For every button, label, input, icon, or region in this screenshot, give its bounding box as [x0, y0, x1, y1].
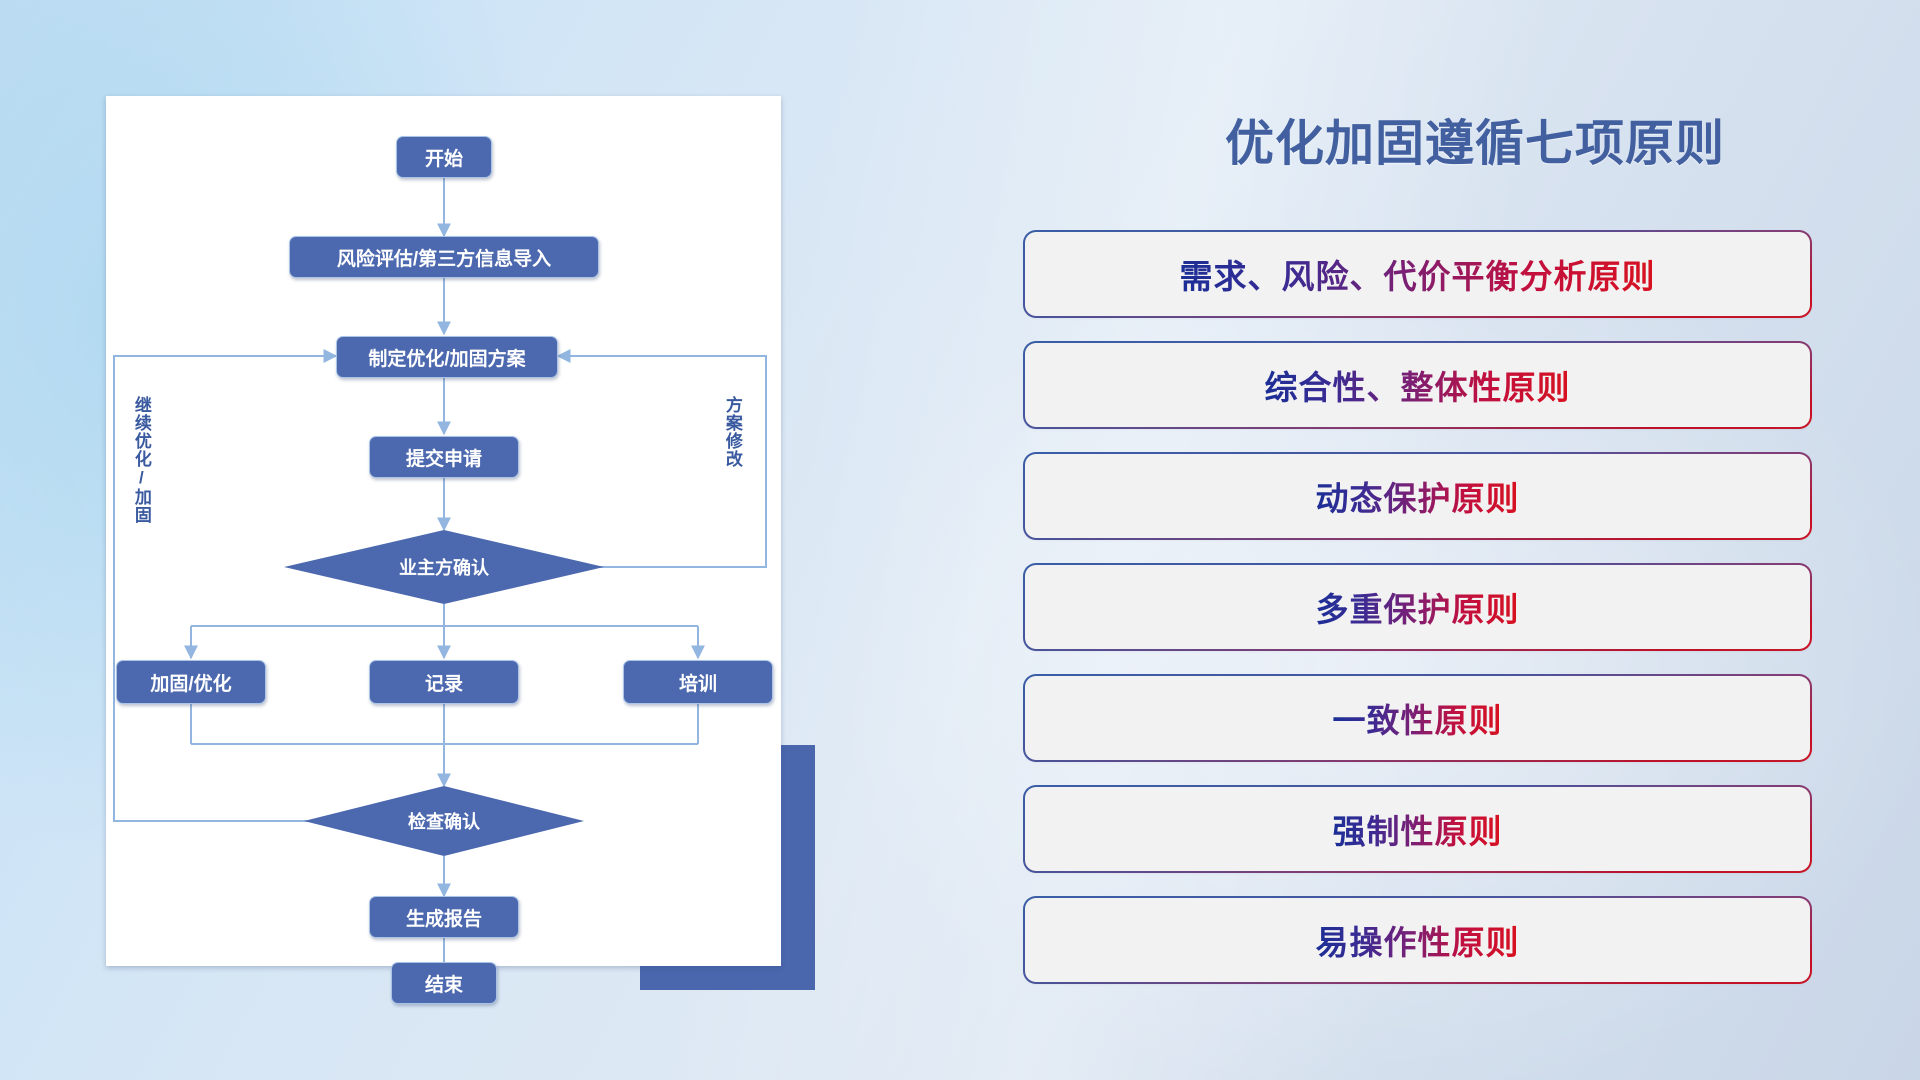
page-title: 优化加固遵循七项原则 — [1155, 104, 1795, 175]
principle-card-2[interactable]: 综合性、整体性原则 — [1025, 343, 1810, 427]
flow-node-start-label: 开始 — [425, 144, 463, 171]
flow-node-make-plan-label: 制定优化/加固方案 — [368, 344, 525, 371]
flow-node-owner-confirm[interactable]: 业主方确认 — [284, 530, 604, 604]
flow-node-check-confirm[interactable]: 检查确认 — [304, 786, 584, 856]
principle-card-4-label: 多重保护原则 — [1316, 583, 1520, 631]
principle-card-6[interactable]: 强制性原则 — [1025, 787, 1810, 871]
flow-node-risk-assessment-label: 风险评估/第三方信息导入 — [337, 244, 551, 271]
flow-node-make-plan[interactable]: 制定优化/加固方案 — [336, 336, 558, 378]
flow-node-training[interactable]: 培训 — [623, 660, 773, 704]
flow-node-check-confirm-label: 检查确认 — [408, 808, 480, 834]
flow-node-risk-assessment[interactable]: 风险评估/第三方信息导入 — [289, 236, 599, 278]
flow-node-generate-report[interactable]: 生成报告 — [369, 896, 519, 938]
flowchart-panel: 开始 风险评估/第三方信息导入 制定优化/加固方案 提交申请 业主方确认 加固/… — [106, 96, 781, 966]
flow-node-submit-application[interactable]: 提交申请 — [369, 436, 519, 478]
principle-card-2-label: 综合性、整体性原则 — [1265, 361, 1571, 409]
principle-card-3[interactable]: 动态保护原则 — [1025, 454, 1810, 538]
flow-node-start[interactable]: 开始 — [396, 136, 492, 178]
flow-node-record[interactable]: 记录 — [369, 660, 519, 704]
principle-card-5-label: 一致性原则 — [1333, 694, 1503, 742]
principle-card-5[interactable]: 一致性原则 — [1025, 676, 1810, 760]
flow-node-generate-report-label: 生成报告 — [406, 904, 482, 931]
principle-card-3-label: 动态保护原则 — [1316, 472, 1520, 520]
principle-card-1-label: 需求、风险、代价平衡分析原则 — [1180, 250, 1656, 298]
principle-card-7[interactable]: 易操作性原则 — [1025, 898, 1810, 982]
flow-edge-label-plan-revision: 方案修改 — [723, 396, 741, 468]
flow-node-end[interactable]: 结束 — [391, 962, 497, 1004]
flow-node-owner-confirm-label: 业主方确认 — [399, 554, 489, 580]
principle-card-4[interactable]: 多重保护原则 — [1025, 565, 1810, 649]
flow-node-training-label: 培训 — [679, 669, 717, 696]
slide-background: 开始 风险评估/第三方信息导入 制定优化/加固方案 提交申请 业主方确认 加固/… — [0, 0, 1920, 1080]
flow-edge-label-continue-optimize: 继续优化/加固 — [132, 396, 150, 524]
flow-node-record-label: 记录 — [425, 669, 463, 696]
principle-card-7-label: 易操作性原则 — [1316, 916, 1520, 964]
flow-node-reinforce-optimize-label: 加固/优化 — [150, 669, 231, 696]
flow-node-end-label: 结束 — [425, 970, 463, 997]
principles-list: 需求、风险、代价平衡分析原则 综合性、整体性原则 动态保护原则 多重保护原则 一… — [1025, 232, 1810, 1009]
flowchart-canvas: 开始 风险评估/第三方信息导入 制定优化/加固方案 提交申请 业主方确认 加固/… — [106, 96, 781, 966]
principle-card-6-label: 强制性原则 — [1333, 805, 1503, 853]
flow-node-reinforce-optimize[interactable]: 加固/优化 — [116, 660, 266, 704]
principle-card-1[interactable]: 需求、风险、代价平衡分析原则 — [1025, 232, 1810, 316]
flow-node-submit-application-label: 提交申请 — [406, 444, 482, 471]
